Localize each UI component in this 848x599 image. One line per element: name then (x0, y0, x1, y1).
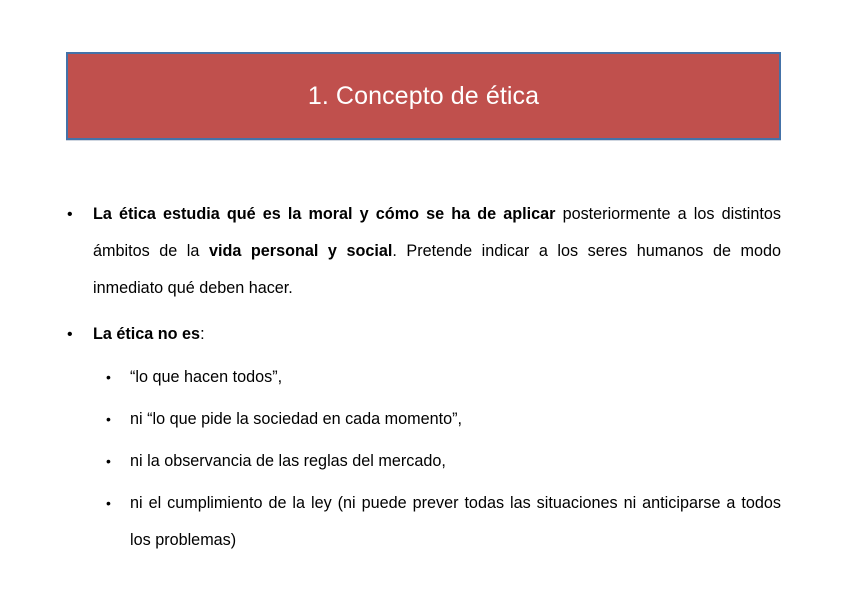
bullet-marker-icon: • (67, 196, 81, 233)
bullet-text-run: vida personal y social (209, 242, 392, 260)
sub-bullet-marker-icon: • (106, 443, 118, 480)
sub-bullet-list: •“lo que hacen todos”, •ni “lo que pide … (0, 359, 848, 559)
sub-bullet-marker-icon: • (106, 401, 118, 438)
list-item-label: ni el cumplimiento de la ley (ni puede p… (130, 494, 781, 549)
sub-bullet-marker-icon: • (106, 485, 118, 522)
list-item: •ni “lo que pide la sociedad en cada mom… (0, 401, 848, 438)
bullet-text-run: La ética estudia qué es la moral y cómo … (93, 205, 555, 223)
bullet-text-run: : (200, 325, 205, 343)
bullet-item: •La ética estudia qué es la moral y cómo… (0, 196, 848, 307)
bullet-text-run: La ética no es (93, 325, 200, 343)
bullet-marker-icon: • (67, 316, 81, 353)
bullet-item: •La ética no es: (0, 316, 848, 353)
slide: 1. Concepto de ética •La ética estudia q… (0, 0, 848, 599)
list-item-label: ni “lo que pide la sociedad en cada mome… (130, 410, 462, 428)
list-item: •“lo que hacen todos”, (0, 359, 848, 396)
list-item: •ni la observancia de las reglas del mer… (0, 443, 848, 480)
title-banner: 1. Concepto de ética (66, 52, 781, 140)
list-item-label: “lo que hacen todos”, (130, 368, 282, 386)
slide-body: •La ética estudia qué es la moral y cómo… (0, 196, 848, 559)
sub-bullet-marker-icon: • (106, 359, 118, 396)
page-title: 1. Concepto de ética (308, 84, 539, 109)
list-item: •ni el cumplimiento de la ley (ni puede … (0, 485, 848, 559)
list-item-label: ni la observancia de las reglas del merc… (130, 452, 446, 470)
